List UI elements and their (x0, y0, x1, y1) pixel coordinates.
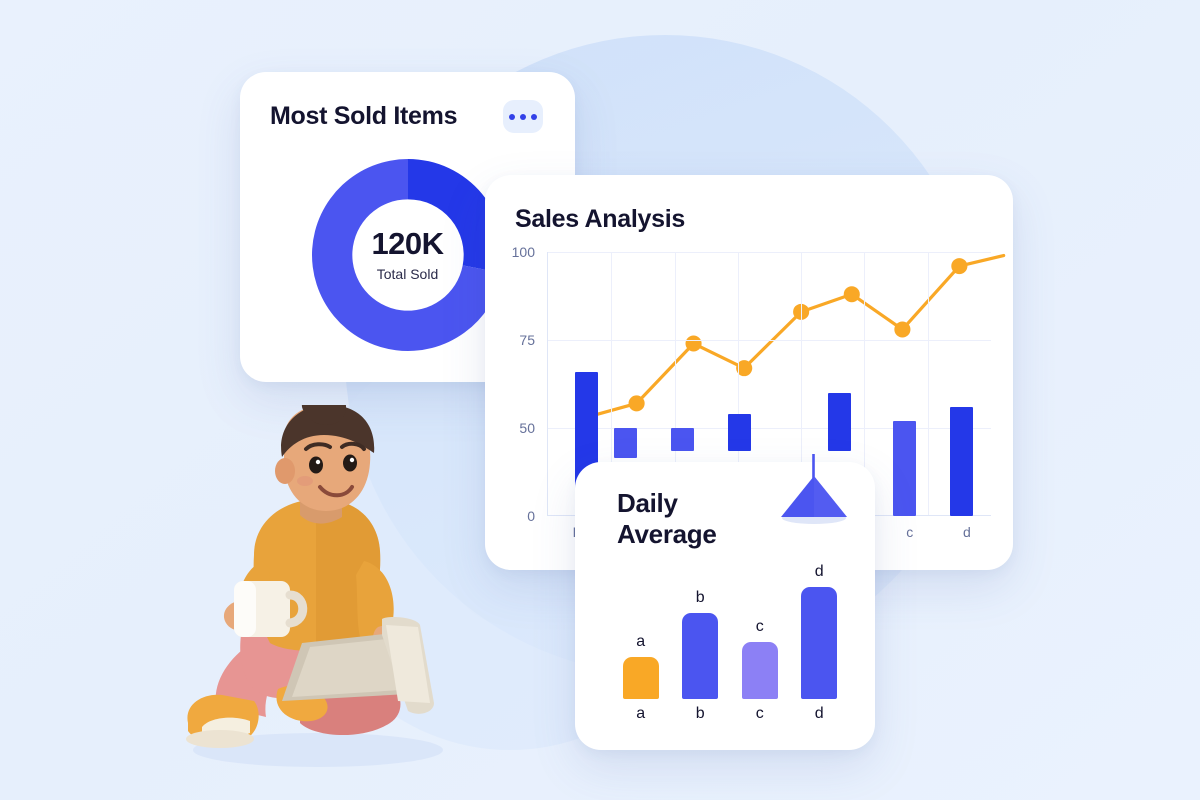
gridline-horizontal (548, 340, 991, 341)
pendant-lamp-icon (775, 454, 853, 534)
y-axis-tick: 0 (527, 508, 535, 524)
trend-line-point[interactable] (686, 336, 702, 352)
donut-svg (308, 155, 508, 355)
woman-with-laptop-illustration (150, 405, 470, 775)
bar[interactable] (671, 428, 694, 451)
bar[interactable] (828, 393, 851, 451)
kebab-menu-icon[interactable] (503, 100, 543, 133)
mini-bar-value-label: b (696, 589, 705, 607)
dashboard-illustration-stage: Most Sold Items 120K Total Sold Sales An… (0, 0, 1200, 800)
gridline-vertical (928, 252, 929, 515)
mini-bar-value-label: a (636, 633, 645, 651)
card-header: Most Sold Items (240, 72, 575, 133)
trend-line-point[interactable] (894, 321, 910, 337)
bar[interactable] (893, 421, 916, 516)
kebab-dot (520, 114, 526, 120)
trend-line-path (586, 256, 1004, 418)
bar[interactable] (614, 428, 637, 458)
page-title-sales-analysis: Sales Analysis (485, 175, 1013, 234)
y-axis: 05075100 (505, 252, 541, 516)
trend-line-point[interactable] (844, 286, 860, 302)
mini-bar[interactable] (682, 613, 718, 700)
y-axis-tick: 100 (512, 244, 535, 260)
mini-bar-category-label: a (636, 705, 645, 723)
bar[interactable] (950, 407, 973, 516)
bar[interactable] (728, 414, 751, 451)
mini-bar-value-label: d (815, 563, 824, 581)
trend-line-point[interactable] (951, 258, 967, 274)
donut-chart-most-sold[interactable]: 120K Total Sold (308, 155, 508, 355)
kebab-dot (509, 114, 515, 120)
kebab-dot (531, 114, 537, 120)
gridline-horizontal (548, 252, 991, 253)
trend-line-point[interactable] (629, 395, 645, 411)
daily-average-bar-chart[interactable]: aabbccdd (611, 555, 849, 725)
mini-bar[interactable] (801, 587, 837, 699)
mini-bar[interactable] (623, 657, 659, 699)
mini-bar-category-label: c (756, 705, 764, 723)
page-title-most-sold: Most Sold Items (270, 102, 457, 131)
mini-bar-category-label: d (815, 705, 824, 723)
mini-bar-category-label: b (696, 705, 705, 723)
mini-bar-value-label: c (756, 618, 764, 636)
y-axis-tick: 50 (519, 420, 535, 436)
mini-bar[interactable] (742, 642, 778, 699)
card-daily-average: Daily Average aabbccdd (575, 462, 875, 750)
x-axis-tick: c (906, 524, 913, 540)
y-axis-tick: 75 (519, 332, 535, 348)
x-axis-tick: d (963, 524, 971, 540)
